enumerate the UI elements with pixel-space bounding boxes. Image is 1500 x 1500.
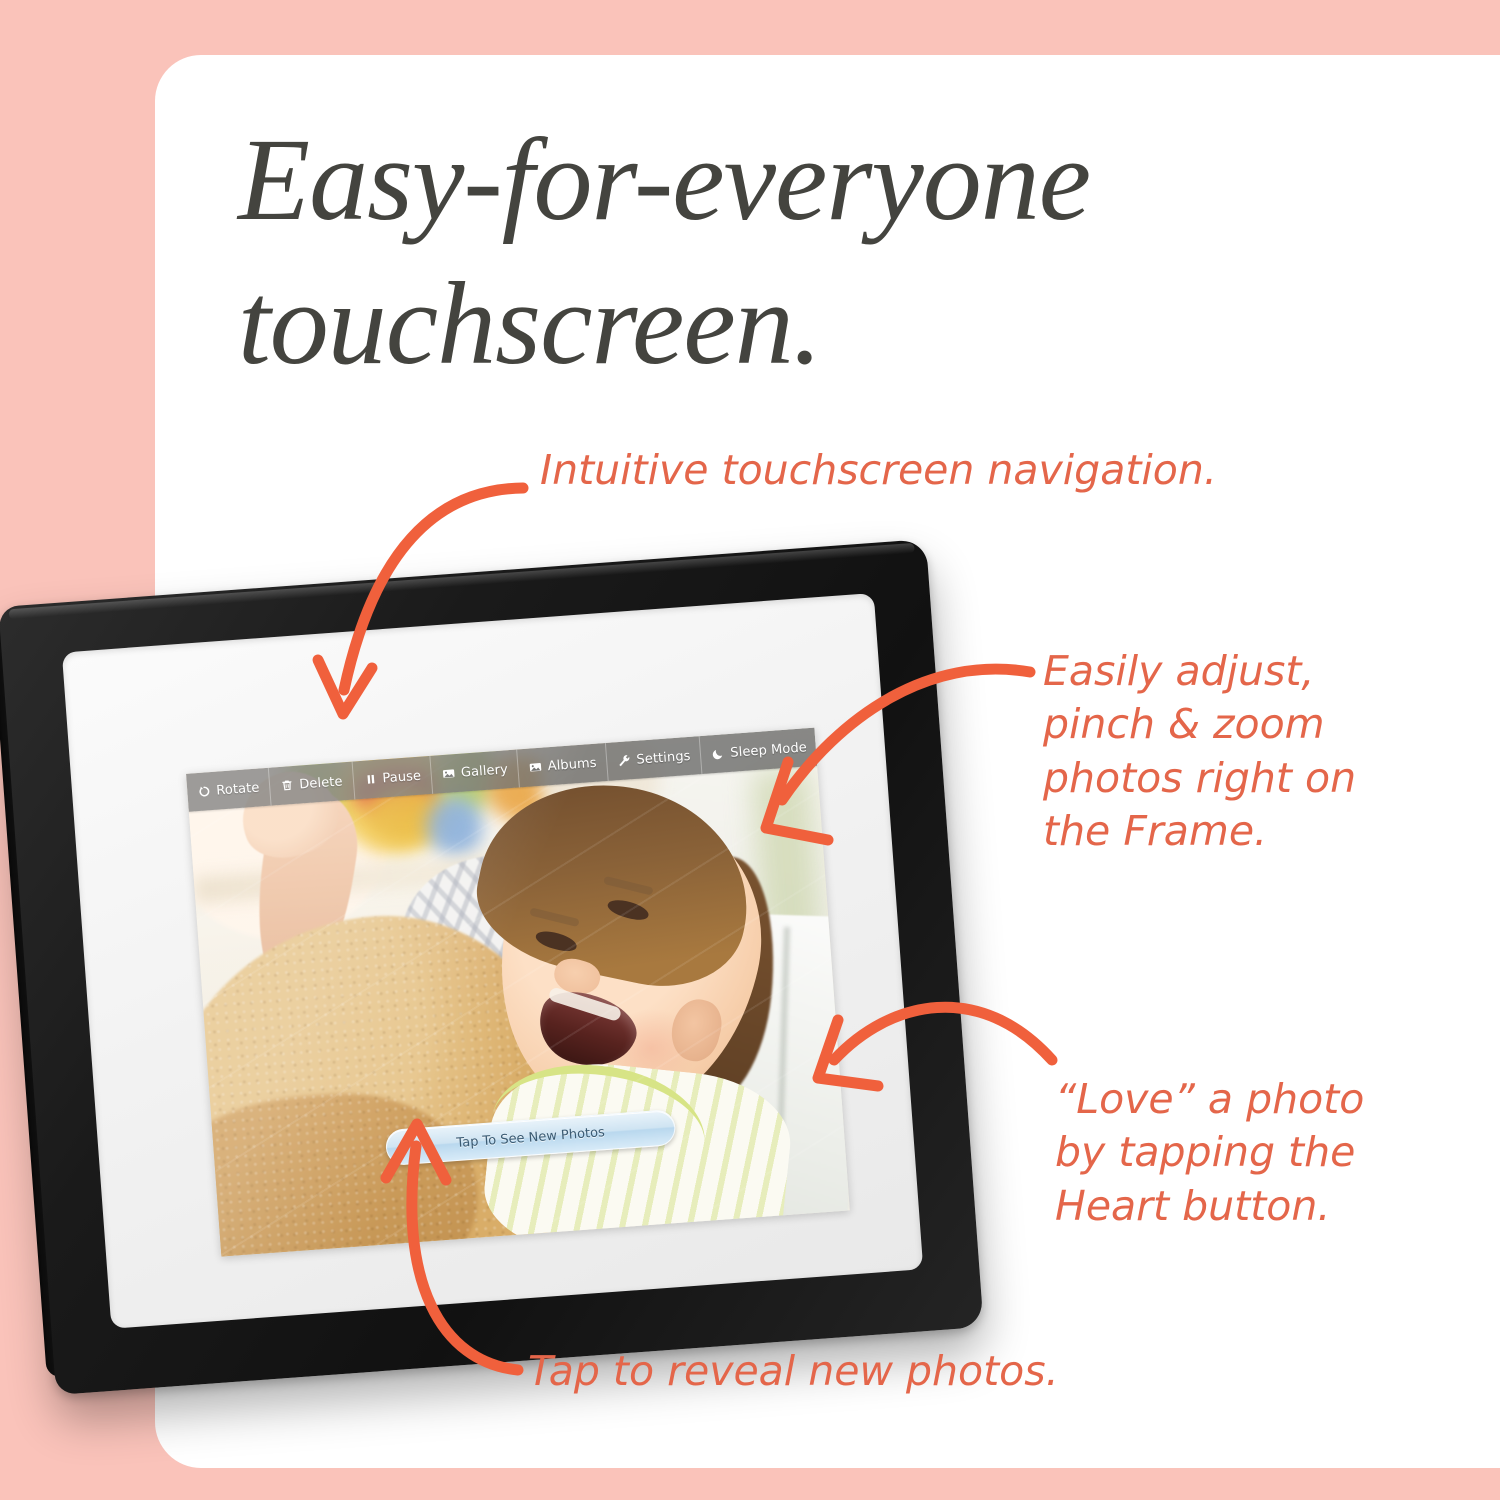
toolbar-item-label: Rotate [216,780,260,798]
pause-icon [363,772,378,787]
tap-button-label: Tap To See New Photos [456,1125,605,1151]
toolbar-item-label: Gallery [460,762,508,780]
annotation-navigation: Intuitive touchscreen navigation. [540,445,1217,495]
toolbar-item-settings[interactable]: Settings [606,736,703,781]
toolbar-item-albums[interactable]: Albums [517,743,609,787]
page-title: Easy-for-everyone touchscreen. [238,108,1358,396]
albums-icon [528,760,543,775]
displayed-photo [186,728,850,1257]
frame-screen[interactable]: RotateDeletePauseGalleryAlbumsSettingsSl… [186,728,850,1257]
annotation-tap-reveal: Tap to reveal new photos. [528,1346,1059,1396]
toolbar-item-label: Sleep Mode [730,740,808,761]
toolbar-item-rotate[interactable]: Rotate [186,768,272,812]
rotate-icon [197,784,212,799]
image-icon [441,766,456,781]
toolbar-item-delete[interactable]: Delete [269,762,355,806]
annotation-pinch-zoom: Easily adjust, pinch & zoom photos right… [1043,645,1443,858]
moon-icon [711,746,726,761]
digital-photo-frame: RotateDeletePauseGalleryAlbumsSettingsSl… [0,539,984,1395]
toolbar-item-pause[interactable]: Pause [352,756,433,800]
toolbar-item-label: Albums [547,755,597,774]
trash-icon [280,778,295,793]
photo-watermark [186,728,850,1257]
toolbar-item-label: Delete [299,774,343,792]
toolbar-item-gallery[interactable]: Gallery [431,749,521,793]
promo-image-root: Easy-for-everyone touchscreen. [0,0,1500,1500]
wrench-icon [617,753,632,768]
annotation-love-heart: “Love” a photo by tapping the Heart butt… [1055,1073,1435,1233]
frame-mat: RotateDeletePauseGalleryAlbumsSettingsSl… [62,593,923,1329]
toolbar-item-label: Pause [382,768,422,786]
toolbar-item-label: Settings [636,748,691,767]
